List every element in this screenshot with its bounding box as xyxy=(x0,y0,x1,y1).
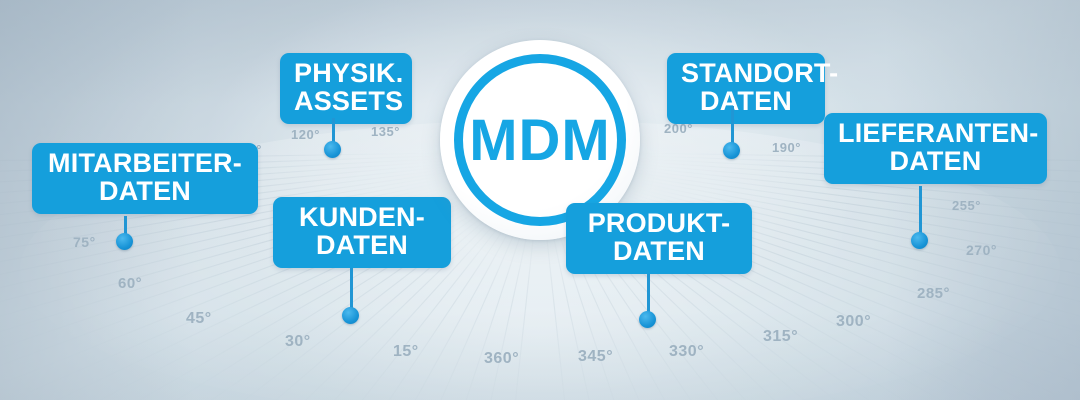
callout-label-physik-assets[interactable]: PHYSIK. ASSETS xyxy=(280,53,412,124)
callout-line1: LIEFERANTEN- xyxy=(838,118,1038,148)
degree-mark-345: 345° xyxy=(578,348,613,366)
degree-mark-60: 60° xyxy=(118,275,142,292)
degree-mark-135: 135° xyxy=(371,124,400,139)
degree-mark-360: 360° xyxy=(484,350,519,368)
callout-line2: DATEN xyxy=(287,232,437,260)
degree-mark-190: 190° xyxy=(772,140,801,155)
degree-mark-30: 30° xyxy=(285,333,311,351)
callout-dot[interactable] xyxy=(342,307,359,324)
callout-dot[interactable] xyxy=(723,142,740,159)
callout-label-lieferanten-daten[interactable]: LIEFERANTEN- DATEN xyxy=(824,113,1047,184)
callout-line2: ASSETS xyxy=(294,88,398,116)
callout-line1: PHYSIK. xyxy=(294,58,403,88)
degree-mark-270: 270° xyxy=(966,242,997,258)
callout-line2: DATEN xyxy=(580,238,738,266)
callout-stem xyxy=(919,186,922,237)
callout-label-mitarbeiter-daten[interactable]: MITARBEITER- DATEN xyxy=(32,143,258,214)
callout-line1: KUNDEN- xyxy=(299,202,425,232)
callout-label-produkt-daten[interactable]: PRODUKT- DATEN xyxy=(566,203,752,274)
callout-line2: DATEN xyxy=(46,178,244,206)
infographic-canvas: 105° 120° 135° 200° 190° 255° 270° 285° … xyxy=(0,0,1080,400)
degree-mark-285: 285° xyxy=(917,285,950,302)
degree-mark-330: 330° xyxy=(669,343,704,361)
degree-mark-315: 315° xyxy=(763,328,798,346)
callout-dot[interactable] xyxy=(116,233,133,250)
callout-dot[interactable] xyxy=(639,311,656,328)
callout-line1: MITARBEITER- xyxy=(48,148,242,178)
degree-mark-255: 255° xyxy=(952,198,981,213)
callout-line1: STANDORT- xyxy=(681,58,838,88)
callout-dot[interactable] xyxy=(911,232,928,249)
callout-dot[interactable] xyxy=(324,141,341,158)
callout-label-standort-daten[interactable]: STANDORT- DATEN xyxy=(667,53,825,124)
callout-line2: DATEN xyxy=(838,148,1033,176)
degree-mark-15: 15° xyxy=(393,343,419,361)
degree-mark-75: 75° xyxy=(73,234,96,250)
degree-mark-300: 300° xyxy=(836,313,871,331)
degree-mark-120: 120° xyxy=(291,127,320,142)
degree-mark-45: 45° xyxy=(186,310,212,328)
callout-line1: PRODUKT- xyxy=(588,208,731,238)
callout-label-kunden-daten[interactable]: KUNDEN- DATEN xyxy=(273,197,451,268)
callout-line2: DATEN xyxy=(681,88,811,116)
